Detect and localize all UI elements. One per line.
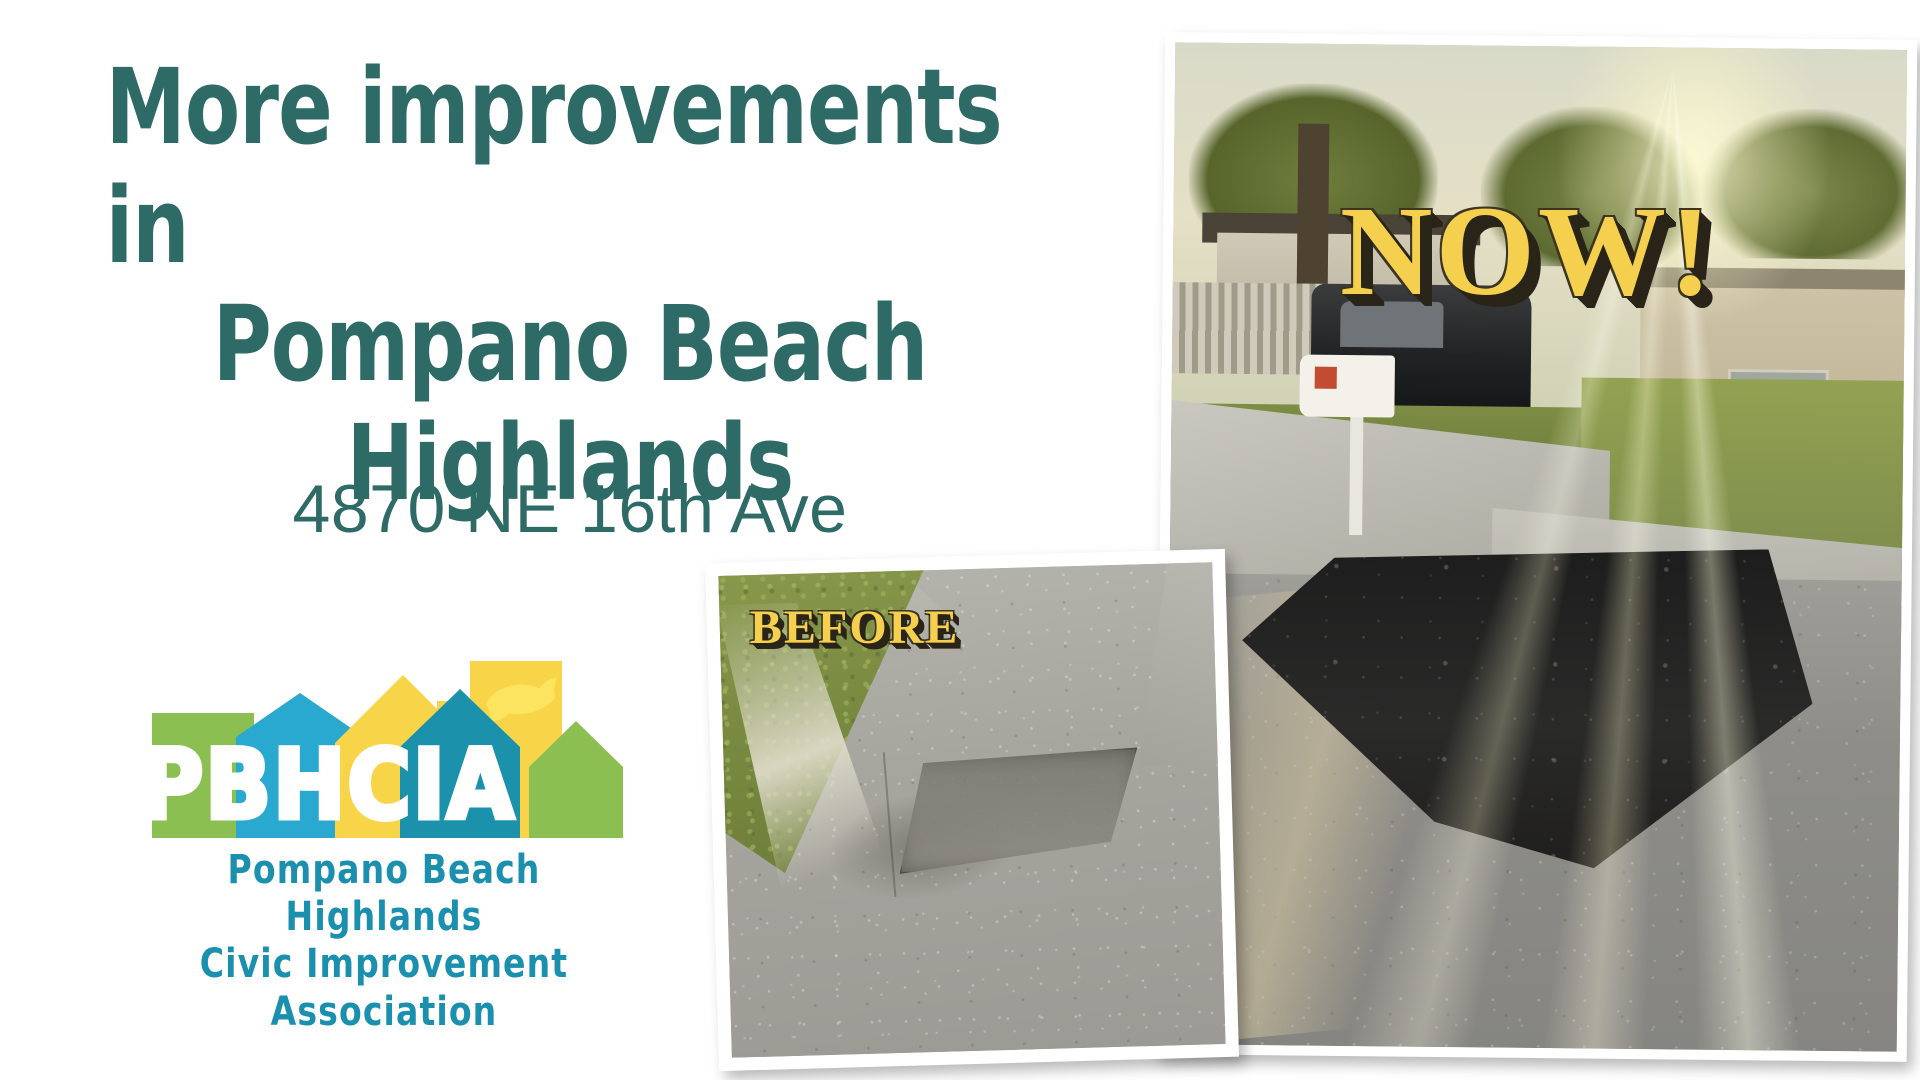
headline-line-1: More improvements in xyxy=(97,48,1043,285)
address-text: 4870 NE 16th Ave xyxy=(20,470,1120,548)
headline-line-2: Pompano Beach xyxy=(97,285,1043,404)
logo-organization-name: Pompano Beach Highlands Civic Improvemen… xyxy=(154,847,614,1036)
page-title: More improvements in Pompano Beach Highl… xyxy=(97,48,1043,522)
logo-name-line-1: Pompano Beach Highlands xyxy=(154,847,614,941)
before-label: BEFORE xyxy=(750,600,959,655)
logo-mark: PBHCIA xyxy=(140,655,620,840)
now-label: NOW! xyxy=(1340,178,1715,325)
before-patch-crack xyxy=(883,731,1153,896)
logo-name-line-2: Civic Improvement Association xyxy=(154,941,614,1035)
pbhcia-logo: PBHCIA Pompano Beach Highlands Civic Imp… xyxy=(140,655,650,945)
logo-acronym: PBHCIA xyxy=(140,737,630,833)
